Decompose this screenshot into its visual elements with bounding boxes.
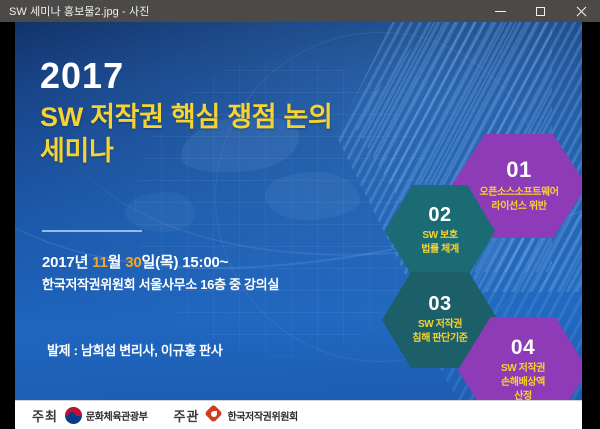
date-mid: 월: [108, 254, 126, 271]
seminar-poster-image: 2017 SW 저작권 핵심 쟁점 논의 세미나 2017년 11월 30일(목…: [15, 22, 582, 429]
host-role-label: 주최: [32, 406, 58, 425]
topic-label-02: SW 보호 법률 체계: [421, 229, 459, 258]
topic-label-04: SW 저작권 손해배상액 산정: [501, 362, 545, 404]
kcc-logo-icon: [206, 407, 223, 423]
event-speakers: 발제 : 남희섭 변리사, 이규홍 판사: [47, 340, 222, 359]
date-month: 11: [92, 254, 107, 271]
host-group: 주최 문화체육관광부: [32, 406, 148, 425]
taegeuk-logo-icon: [65, 407, 82, 424]
host-name: 문화체육관광부: [86, 408, 148, 423]
date-suffix: 일(목) 15:00~: [141, 254, 228, 271]
date-prefix: 2017년: [42, 254, 92, 271]
topic-number-03: 03: [428, 294, 451, 314]
window-controls: [480, 0, 600, 22]
topic-label-03: SW 저작권 침해 판단기준: [412, 318, 467, 347]
topic-number-04: 04: [511, 337, 535, 358]
world-map-landmass-icon-2: [265, 172, 360, 220]
organizer-name: 한국저작권위원회: [227, 408, 297, 423]
poster-headline: 2017 SW 저작권 핵심 쟁점 논의 세미나: [40, 57, 333, 169]
date-day: 30: [125, 254, 141, 271]
topic-number-02: 02: [428, 205, 451, 225]
close-button[interactable]: [560, 0, 600, 22]
poster-footer: 주최 문화체육관광부 주관 한국저작권위원회: [15, 400, 582, 429]
event-venue: 한국저작권위원회 서울사무소 16층 중 강의실: [42, 275, 279, 296]
minimize-button[interactable]: [480, 0, 520, 22]
maximize-icon: [536, 7, 545, 16]
organizer-role-label: 주관: [174, 406, 200, 425]
organizer-group: 주관 한국저작권위원회: [174, 406, 298, 425]
poster-title: SW 저작권 핵심 쟁점 논의 세미나: [40, 100, 333, 169]
window-titlebar[interactable]: SW 세미나 홍보물2.jpg - 사진: [0, 0, 600, 22]
minimize-icon: [495, 11, 506, 12]
window-title: SW 세미나 홍보물2.jpg - 사진: [0, 3, 149, 19]
maximize-button[interactable]: [520, 0, 560, 22]
poster-info-block: 2017년 11월 30일(목) 15:00~ 한국저작권위원회 서울사무소 1…: [42, 252, 279, 295]
close-icon: [575, 6, 586, 17]
topic-label-01: 오픈소스소프트웨어 라이선스 위반: [479, 186, 558, 214]
event-datetime: 2017년 11월 30일(목) 15:00~: [42, 252, 279, 275]
headline-divider: [42, 230, 142, 232]
image-viewer-canvas[interactable]: 2017 SW 저작권 핵심 쟁점 논의 세미나 2017년 11월 30일(목…: [0, 22, 600, 429]
poster-year: 2017: [40, 57, 333, 96]
photo-viewer-window: SW 세미나 홍보물2.jpg - 사진: [0, 0, 600, 429]
world-map-landmass-icon-3: [125, 192, 195, 232]
topic-number-01: 01: [506, 159, 531, 181]
